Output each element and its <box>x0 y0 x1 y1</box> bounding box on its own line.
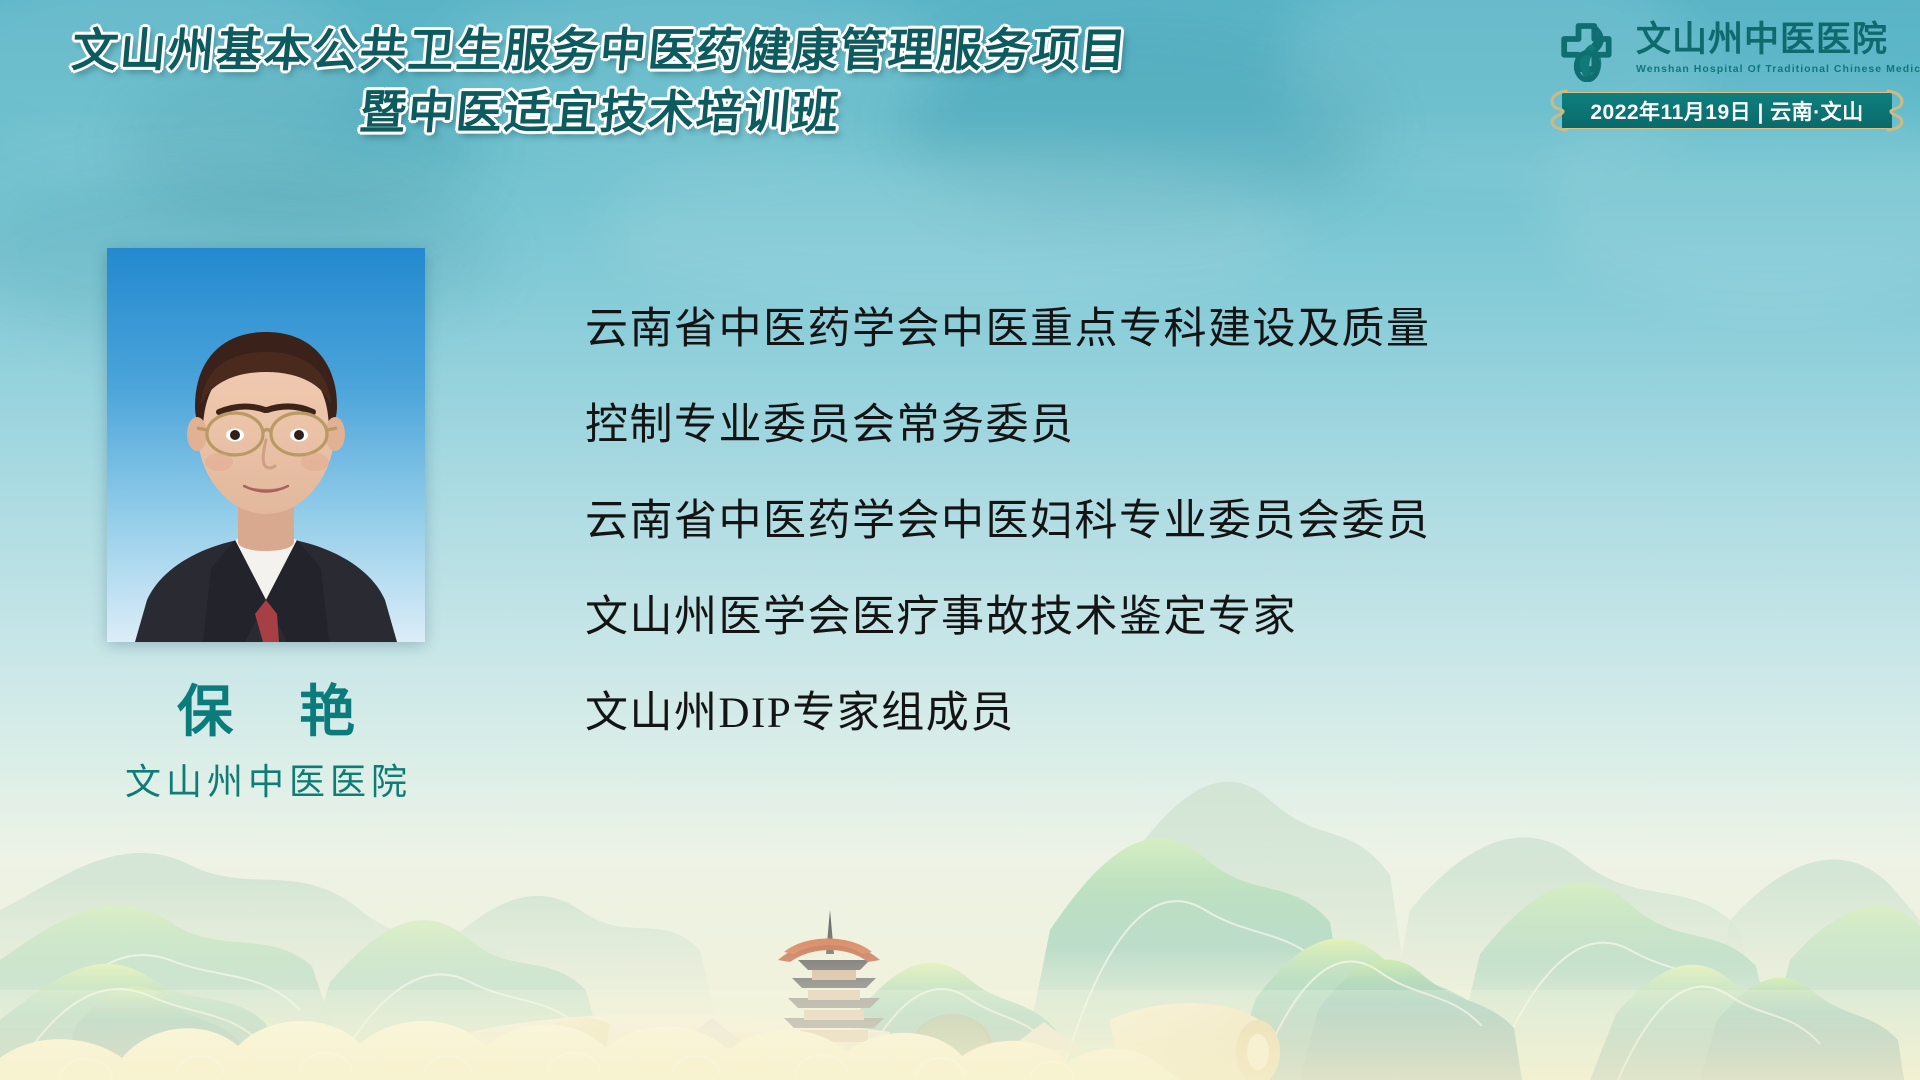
hospital-name-cn: 文山州中医医院 <box>1636 21 1920 59</box>
credential-line: 文山州医学会医疗事故技术鉴定专家 <box>585 570 1825 666</box>
speaker-name: 保 艳 <box>96 682 436 744</box>
medical-cross-leaf-logo-icon <box>1554 16 1626 82</box>
speaker-profile-column: 保 艳 文山州中医医院 <box>96 248 436 804</box>
hospital-name-en: Wenshan Hospital Of Traditional Chinese … <box>1636 61 1920 77</box>
hospital-brand-block: 文山州中医医院 Wenshan Hospital Of Traditional … <box>1554 16 1904 129</box>
credential-line: 文山州DIP专家组成员 <box>585 666 1825 762</box>
title-line-primary: 文山州基本公共卫生服务中医药健康管理服务项目 <box>0 20 1203 82</box>
title-line-secondary: 暨中医适宜技术培训班 <box>0 82 1203 144</box>
speaker-portrait-photo <box>107 248 425 642</box>
ribbon-scroll-right-icon <box>1884 89 1910 132</box>
ribbon-scroll-left-icon <box>1544 89 1570 132</box>
bottom-mist-overlay <box>0 880 1920 1080</box>
speaker-organization: 文山州中医医院 <box>96 760 436 804</box>
date-location-ribbon: 2022年11月19日 | 云南·文山 <box>1562 92 1892 129</box>
credential-line: 云南省中医药学会中医重点专科建设及质量 <box>585 282 1825 378</box>
credential-line: 云南省中医药学会中医妇科专业委员会委员 <box>585 474 1825 570</box>
presentation-slide: 文山州基本公共卫生服务中医药健康管理服务项目 暨中医适宜技术培训班 <box>0 0 1920 1080</box>
speaker-credentials-list: 云南省中医药学会中医重点专科建设及质量 控制专业委员会常务委员 云南省中医药学会… <box>585 282 1825 762</box>
date-location-text: 2022年11月19日 | 云南·文山 <box>1590 96 1863 126</box>
slide-header: 文山州基本公共卫生服务中医药健康管理服务项目 暨中医适宜技术培训班 <box>0 0 1920 172</box>
brand-name-group: 文山州中医医院 Wenshan Hospital Of Traditional … <box>1636 21 1920 77</box>
title-block: 文山州基本公共卫生服务中医药健康管理服务项目 暨中医适宜技术培训班 <box>0 20 1200 144</box>
credential-line: 控制专业委员会常务委员 <box>585 378 1825 474</box>
brand-logo-row: 文山州中医医院 Wenshan Hospital Of Traditional … <box>1554 16 1904 82</box>
